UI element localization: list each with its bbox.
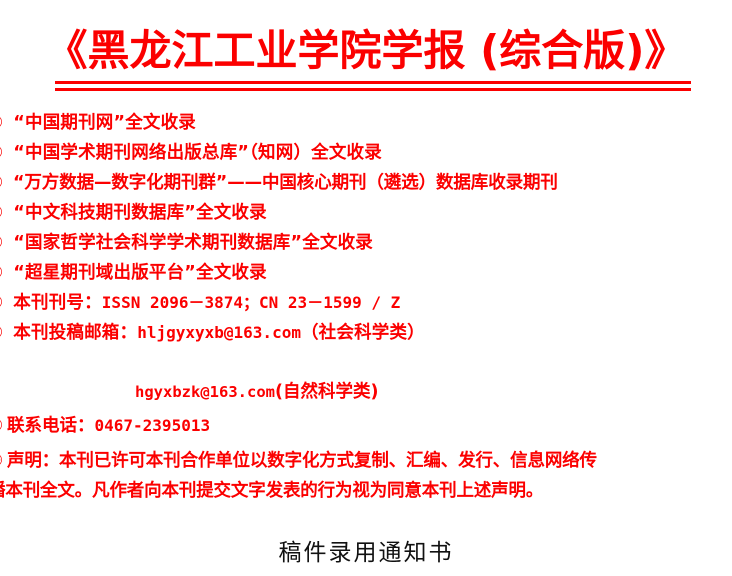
serial-value: ISSN 2096－3874；CN 23－1599 / Z <box>102 293 400 312</box>
serial-number-row: ⑦ 本刊刊号：ISSN 2096－3874；CN 23－1599 / Z <box>0 288 732 318</box>
email-address-natural[interactable]: hgyxbzk@163.com <box>135 383 275 401</box>
indexing-list: ① “中国期刊网”全文收录 ② “中国学术期刊网络出版总库”（知网）全文收录 ③… <box>0 108 732 348</box>
list-marker-2: ② <box>0 138 7 168</box>
declaration-line-2: 播本刊全文。凡作者向本刊提交文字发表的行为视为同意本刊上述声明。 <box>0 476 732 506</box>
page-title: 稿件录用通知书 <box>0 538 732 568</box>
list-marker-9: ⑨ <box>0 412 7 440</box>
contact-label: 联系电话： <box>7 416 95 436</box>
list-marker-6: ⑥ <box>0 258 7 288</box>
declaration-text-1: 声明：本刊已许可本刊合作单位以数字化方式复制、汇编、发行、信息网络传 <box>7 451 597 471</box>
declaration-line-1: ⑩声明：本刊已许可本刊合作单位以数字化方式复制、汇编、发行、信息网络传 <box>0 446 732 476</box>
list-marker-8: ⑧ <box>0 318 7 348</box>
list-item: ③ “万方数据—数字化期刊群”——中国核心期刊（遴选）数据库收录期刊 <box>0 168 732 198</box>
list-marker-1: ① <box>0 108 7 138</box>
list-item: ⑤ “国家哲学社会科学学术期刊数据库”全文收录 <box>0 228 732 258</box>
email-category-natural: (自然科学类) <box>275 382 379 402</box>
list-item-label: “中文科技期刊数据库”全文收录 <box>13 203 267 223</box>
list-marker-5: ⑤ <box>0 228 7 258</box>
serial-label: 本刊刊号： <box>13 293 102 313</box>
list-marker-7: ⑦ <box>0 288 7 318</box>
submission-email-row: ⑧ 本刊投稿邮箱：hljgyxyxb@163.com（社会科学类） <box>0 318 732 348</box>
journal-masthead: 《黑龙江工业学院学报 (综合版)》 <box>0 26 732 76</box>
list-marker-4: ④ <box>0 198 7 228</box>
email-label: 本刊投稿邮箱： <box>13 323 137 343</box>
list-item: ⑥ “超星期刊域出版平台”全文收录 <box>0 258 732 288</box>
list-item-label: “万方数据—数字化期刊群”——中国核心期刊（遴选）数据库收录期刊 <box>13 173 558 193</box>
list-marker-10: ⑩ <box>0 446 7 476</box>
list-marker-3: ③ <box>0 168 7 198</box>
masthead-rule-lower <box>55 88 691 91</box>
email-address-social[interactable]: hljgyxyxb@163.com <box>137 323 301 342</box>
email-category-social: （社会科学类） <box>301 323 425 343</box>
list-item: ① “中国期刊网”全文收录 <box>0 108 732 138</box>
list-item: ④ “中文科技期刊数据库”全文收录 <box>0 198 732 228</box>
copyright-declaration: ⑩声明：本刊已许可本刊合作单位以数字化方式复制、汇编、发行、信息网络传 播本刊全… <box>0 446 732 506</box>
list-item: ② “中国学术期刊网络出版总库”（知网）全文收录 <box>0 138 732 168</box>
list-item-label: “中国学术期刊网络出版总库”（知网）全文收录 <box>13 143 382 163</box>
masthead-rule-upper <box>55 81 691 84</box>
submission-email-secondary-row: hgyxbzk@163.com(自然科学类) <box>135 379 378 405</box>
list-item-label: “中国期刊网”全文收录 <box>13 113 196 133</box>
list-item-label: “国家哲学社会科学学术期刊数据库”全文收录 <box>13 233 373 253</box>
list-item-label: “超星期刊域出版平台”全文收录 <box>13 263 267 283</box>
journal-title: 《黑龙江工业学院学报 (综合版)》 <box>45 26 686 76</box>
contact-phone-value[interactable]: 0467-2395013 <box>95 416 211 435</box>
contact-phone-row: ⑨联系电话：0467-2395013 <box>0 412 210 440</box>
